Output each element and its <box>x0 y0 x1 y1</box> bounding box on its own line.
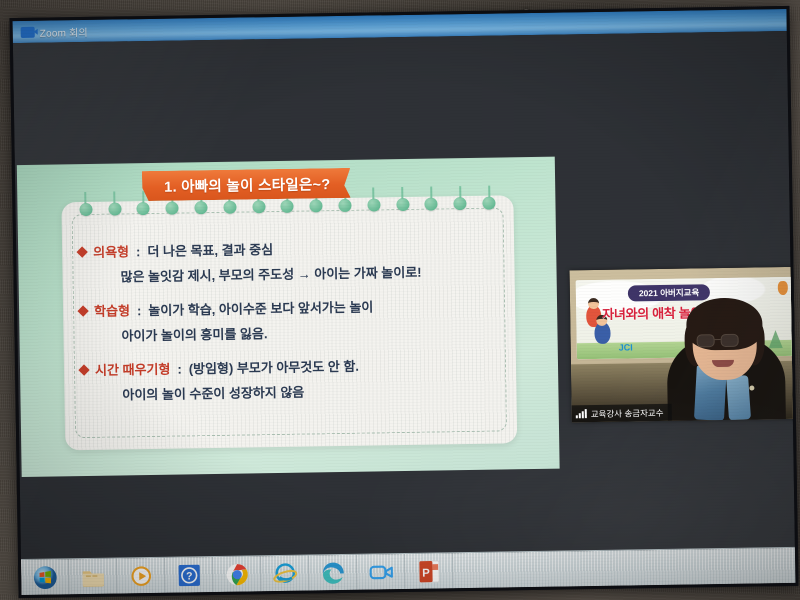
binding-dot-icon <box>137 202 150 215</box>
binding-dot-icon <box>223 201 236 214</box>
binding-dot-icon <box>482 197 495 210</box>
binding-dot-icon <box>166 202 179 215</box>
bullet-keyword: 의욕형 <box>93 241 129 261</box>
bullet-text: 놀이가 학습, 아이수준 보다 앞서가는 놀이 <box>148 296 373 319</box>
chrome-button[interactable] <box>213 556 262 593</box>
diamond-bullet-icon <box>77 246 88 257</box>
bullet-text: (방임형) 부모가 아무것도 안 함. <box>189 356 360 378</box>
binding-dot-icon <box>425 197 438 210</box>
bullet-primary-line: 학습형 : 놀이가 학습, 아이수준 보다 앞서가는 놀이 <box>79 294 519 320</box>
bullet-separator: : <box>177 362 182 377</box>
binding-dot-icon <box>338 199 351 212</box>
bullet-secondary-line: 많은 놀잇감 제시, 부모의 주도성 → 아이는 가짜 놀이로! <box>120 260 518 285</box>
slide-title-text: 1. 아빠의 놀이 스타일은~? <box>164 173 331 197</box>
help-app-button[interactable]: ? <box>165 557 214 594</box>
bullet-item: 학습형 : 놀이가 학습, 아이수준 보다 앞서가는 놀이 아이가 놀이의 흥미… <box>79 294 520 345</box>
event-year-pill: 2021 아버지교육 <box>628 284 711 301</box>
binding-dot-icon <box>194 201 207 214</box>
zoom-video-icon <box>21 26 35 37</box>
folder-icon <box>80 563 106 589</box>
start-button[interactable] <box>21 559 70 596</box>
monitor-photo: Zoom 회의 <box>0 0 800 600</box>
bullet-keyword: 시간 때우기형 <box>95 359 171 379</box>
bullet-separator: : <box>136 244 141 259</box>
bullet-item: 시간 때우기형 : (방임형) 부모가 아무것도 안 함. 아이의 놀이 수준이… <box>80 353 521 404</box>
binding-dot-icon <box>310 199 323 212</box>
zoom-button[interactable] <box>357 554 406 591</box>
participant-name-label: 교육강사 송금자교수 <box>572 404 672 423</box>
bullet-text: 더 나은 목표, 결과 중심 <box>147 239 273 260</box>
bullet-separator: : <box>137 303 142 318</box>
zoom-window-title: Zoom 회의 <box>40 23 88 39</box>
monitor-screen: Zoom 회의 <box>9 6 798 598</box>
windows-orb-icon <box>32 564 58 590</box>
participant-video-tile[interactable]: 2021 아버지교육 자녀와의 애착 놀이방법 JCI <box>570 267 799 423</box>
binding-dot-icon <box>367 198 380 211</box>
zoom-meeting-stage: 1. 아빠의 놀이 스타일은~? 의욕형 : 더 나은 목표, 결과 중심 많은… <box>13 31 795 559</box>
glasses-icon <box>721 334 739 347</box>
diamond-bullet-icon <box>77 305 88 316</box>
slide-title-banner: 1. 아빠의 놀이 스타일은~? <box>142 168 351 201</box>
svg-text:?: ? <box>185 570 192 582</box>
media-player-button[interactable] <box>117 557 166 594</box>
zoom-camera-icon <box>368 559 394 585</box>
lapel-pin-icon <box>749 386 754 391</box>
tree-icon <box>768 330 782 348</box>
binding-dot-icon <box>252 200 265 213</box>
binding-dot-icon <box>454 197 467 210</box>
edge-button[interactable] <box>309 554 358 591</box>
binding-dot-icon <box>281 200 294 213</box>
glasses-icon <box>697 334 715 347</box>
svg-text:P: P <box>422 567 430 579</box>
screen-wrapper: Zoom 회의 <box>9 6 798 598</box>
internet-explorer-icon <box>272 560 298 586</box>
binding-dot-icon <box>108 202 121 215</box>
binding-dot-icon <box>79 203 92 216</box>
glasses-bridge <box>715 339 721 340</box>
diamond-bullet-icon <box>78 364 89 375</box>
powerpoint-icon: P <box>416 558 442 584</box>
powerpoint-button[interactable]: P <box>405 553 454 590</box>
bullet-keyword: 학습형 <box>94 300 130 320</box>
edge-icon <box>320 559 346 585</box>
file-explorer-button[interactable] <box>69 558 118 595</box>
bullet-secondary-line: 아이가 놀이의 흥미를 잃음. <box>121 319 519 344</box>
question-mark-icon: ? <box>176 562 202 588</box>
bullet-item: 의욕형 : 더 나은 목표, 결과 중심 많은 놀잇감 제시, 부모의 주도성 … <box>78 235 519 286</box>
signal-bars-icon <box>576 409 587 418</box>
shared-slide[interactable]: 1. 아빠의 놀이 스타일은~? 의욕형 : 더 나은 목표, 결과 중심 많은… <box>17 157 560 477</box>
participant-name-text: 교육강사 송금자교수 <box>591 406 664 419</box>
binding-dot-icon <box>396 198 409 211</box>
play-circle-icon <box>128 562 154 588</box>
slide-bullet-list: 의욕형 : 더 나은 목표, 결과 중심 많은 놀잇감 제시, 부모의 주도성 … <box>78 235 521 419</box>
bullet-primary-line: 시간 때우기형 : (방임형) 부모가 아무것도 안 함. <box>80 353 520 379</box>
banner-decoration-icon <box>778 281 788 295</box>
event-logo-text: JCI <box>619 342 633 352</box>
internet-explorer-button[interactable] <box>261 555 310 592</box>
bullet-secondary-line: 아이의 놀이 수준이 성장하지 않음 <box>122 378 520 403</box>
chrome-icon <box>224 561 250 587</box>
speaker-scarf <box>726 375 751 420</box>
